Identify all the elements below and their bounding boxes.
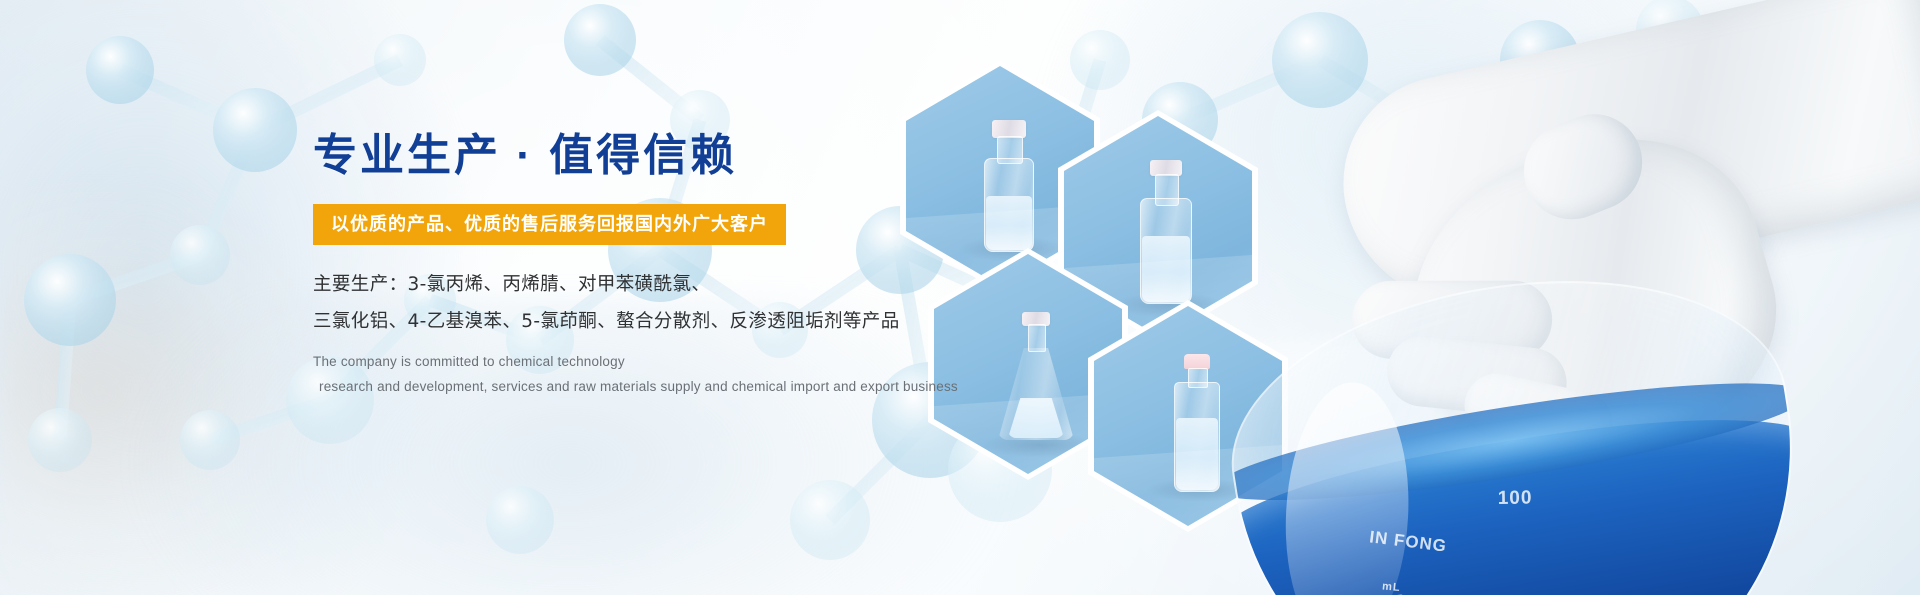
flask-liquid-surface	[1210, 360, 1813, 523]
english-line-1: The company is committed to chemical tec…	[313, 352, 1033, 372]
flask-liquid	[1214, 394, 1830, 595]
page-title: 专业生产 · 值得信赖	[313, 132, 1033, 180]
volumetric-flask-icon: IN FONG mL 100 50	[1210, 244, 1830, 595]
flask-highlight	[1280, 379, 1416, 595]
banner-copy: 专业生产 · 值得信赖 以优质的产品、优质的售后服务回报国内外广大客户 主要生产…	[313, 132, 1033, 403]
hex-tile-capped-bottle	[1088, 300, 1288, 532]
glove-palm	[1376, 106, 1805, 494]
background-wash-top-right	[1040, 0, 1800, 340]
english-description: The company is committed to chemical tec…	[313, 352, 1033, 397]
flask-brand-text: IN FONG	[1369, 527, 1449, 556]
flask-unit-text: mL	[1382, 581, 1401, 595]
glove-arm	[1322, 0, 1920, 327]
capped-bottle-icon	[1184, 354, 1210, 369]
hero-banner: IN FONG mL 100 50 专业生产 · 值得信赖 以优质的产品、优质的…	[0, 0, 1920, 595]
clear-bottle-icon	[1150, 160, 1182, 176]
product-line-2: 三氯化铝、4-乙基溴苯、5-氯茚酮、螯合分散剂、反渗透阻垢剂等产品	[313, 308, 1033, 336]
gloved-hand-icon: IN FONG mL 100 50	[1160, 0, 1920, 595]
english-line-2: research and development, services and r…	[313, 377, 1033, 397]
product-line-1: 主要生产：3-氯丙烯、丙烯腈、对甲苯磺酰氯、	[313, 271, 1033, 299]
flask-volume-upper-text: 100	[1497, 487, 1532, 510]
tagline-badge: 以优质的产品、优质的售后服务回报国内外广大客户	[313, 204, 786, 245]
background-wash-left-warm	[0, 180, 330, 595]
product-list: 主要生产：3-氯丙烯、丙烯腈、对甲苯磺酰氯、 三氯化铝、4-乙基溴苯、5-氯茚酮…	[313, 271, 1033, 336]
hex-tile-clear-bottle	[1058, 110, 1258, 342]
